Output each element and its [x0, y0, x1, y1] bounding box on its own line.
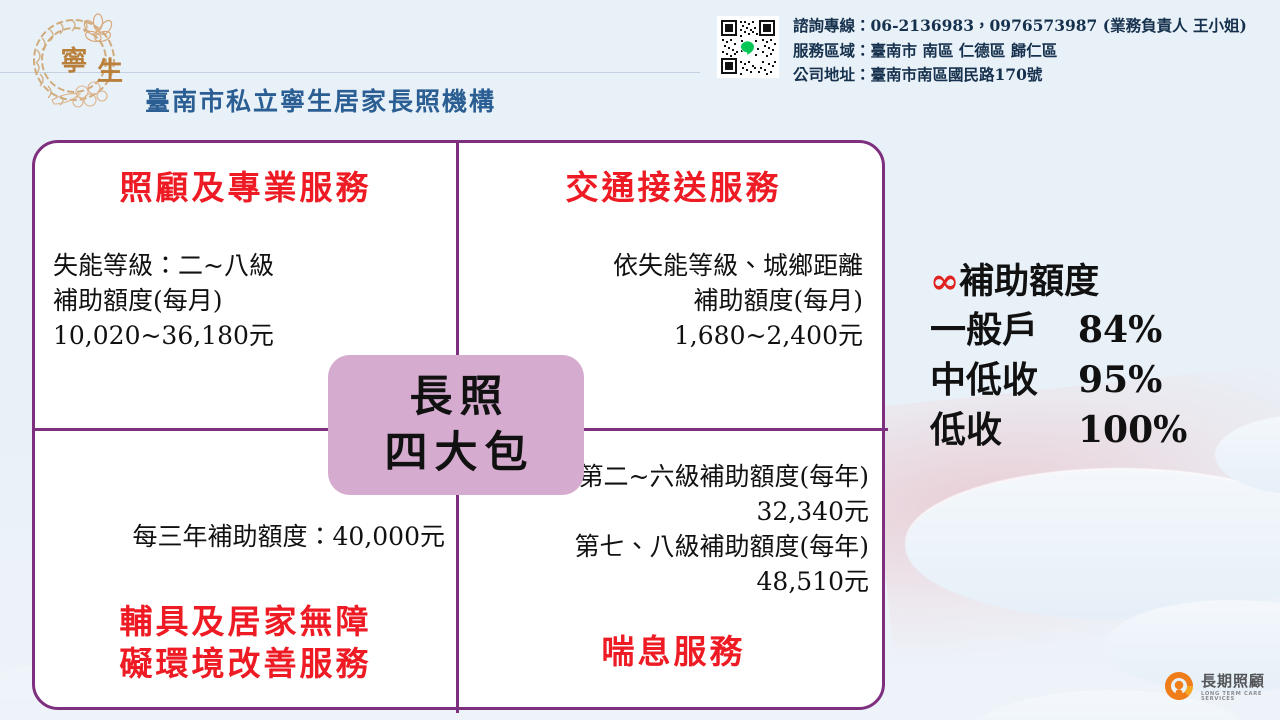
- contact-line-address: 公司地址：臺南市南區國民路170號: [793, 63, 1273, 88]
- assistive-service-title: 輔具及居家無障 礙環境改善服務: [35, 601, 456, 685]
- subsidy-rate-block: ∞補助額度 一般戶 84% 中低收 95% 低收 100%: [930, 258, 1260, 455]
- care-line-1: 失能等級：二~八級: [53, 248, 274, 283]
- subsidy-value-general: 84%: [1078, 305, 1162, 355]
- respite-line-3: 第七、八級補助額度(每年): [459, 529, 869, 564]
- ningsheng-logo-icon: 寧 生: [22, 8, 142, 116]
- assistive-title-line-2: 礙環境改善服務: [35, 643, 456, 685]
- subsidy-heading: ∞補助額度: [930, 258, 1260, 305]
- contact-line-phone: 諮詢專線：06-2136983，0976573987 (業務負責人 王小姐): [793, 14, 1273, 39]
- subsidy-label-general: 一般戶: [930, 305, 1078, 355]
- contact-line-service: 服務區域：臺南市 南區 仁德區 歸仁區: [793, 39, 1273, 64]
- transport-line-1: 依失能等級、城鄉距離: [459, 248, 863, 283]
- line-qr-code-icon[interactable]: [717, 16, 779, 78]
- long-term-care-logo: 長期照顧 LONG TERM CARE SERVICES: [1163, 668, 1271, 708]
- long-term-care-mark-icon: [1163, 670, 1195, 706]
- long-term-care-wordmark: 長期照顧 LONG TERM CARE SERVICES: [1201, 674, 1271, 702]
- assistive-line-1: 每三年補助額度：40,000元: [35, 519, 445, 554]
- transport-line-2: 補助額度(每月): [459, 283, 863, 318]
- subsidy-label-mid-low-income: 中低收: [930, 355, 1078, 405]
- care-line-3: 10,020~36,180元: [53, 318, 274, 353]
- page-header: 寧 生 臺南市私立寧生居家長照機構: [0, 0, 1280, 120]
- subsidy-heading-text: 補助額度: [959, 261, 1099, 302]
- ltc-zh-text: 長期照顧: [1201, 674, 1271, 689]
- subsidy-row-low-income: 低收 100%: [930, 405, 1260, 455]
- badge-line-2: 四大包: [378, 425, 535, 481]
- respite-service-title: 喘息服務: [459, 631, 888, 673]
- assistive-service-body: 每三年補助額度：40,000元: [35, 519, 445, 554]
- contact-info-block: 諮詢專線：06-2136983，0976573987 (業務負責人 王小姐) 服…: [793, 14, 1273, 88]
- logo-character-sheng: 生: [97, 57, 123, 87]
- ltc-en-text: LONG TERM CARE SERVICES: [1201, 692, 1271, 702]
- transport-line-3: 1,680~2,400元: [459, 318, 863, 353]
- badge-line-1: 長照: [403, 369, 510, 425]
- care-service-body: 失能等級：二~八級 補助額度(每月) 10,020~36,180元: [53, 248, 274, 353]
- transport-service-title: 交通接送服務: [459, 167, 888, 209]
- subsidy-value-mid-low-income: 95%: [1078, 355, 1162, 405]
- logo-character-ning: 寧: [61, 45, 88, 77]
- subsidy-label-low-income: 低收: [930, 405, 1078, 455]
- infinity-icon: ∞: [930, 261, 959, 302]
- respite-line-4: 48,510元: [459, 564, 869, 599]
- transport-service-body: 依失能等級、城鄉距離 補助額度(每月) 1,680~2,400元: [459, 248, 863, 353]
- assistive-title-line-1: 輔具及居家無障: [35, 601, 456, 643]
- subsidy-row-general: 一般戶 84%: [930, 305, 1260, 355]
- brand-title: 臺南市私立寧生居家長照機構: [145, 82, 496, 118]
- respite-line-2: 32,340元: [459, 494, 869, 529]
- center-badge: 長照 四大包: [328, 355, 584, 495]
- care-line-2: 補助額度(每月): [53, 283, 274, 318]
- subsidy-row-mid-low-income: 中低收 95%: [930, 355, 1260, 405]
- care-service-title: 照顧及專業服務: [35, 167, 456, 209]
- subsidy-value-low-income: 100%: [1078, 405, 1187, 455]
